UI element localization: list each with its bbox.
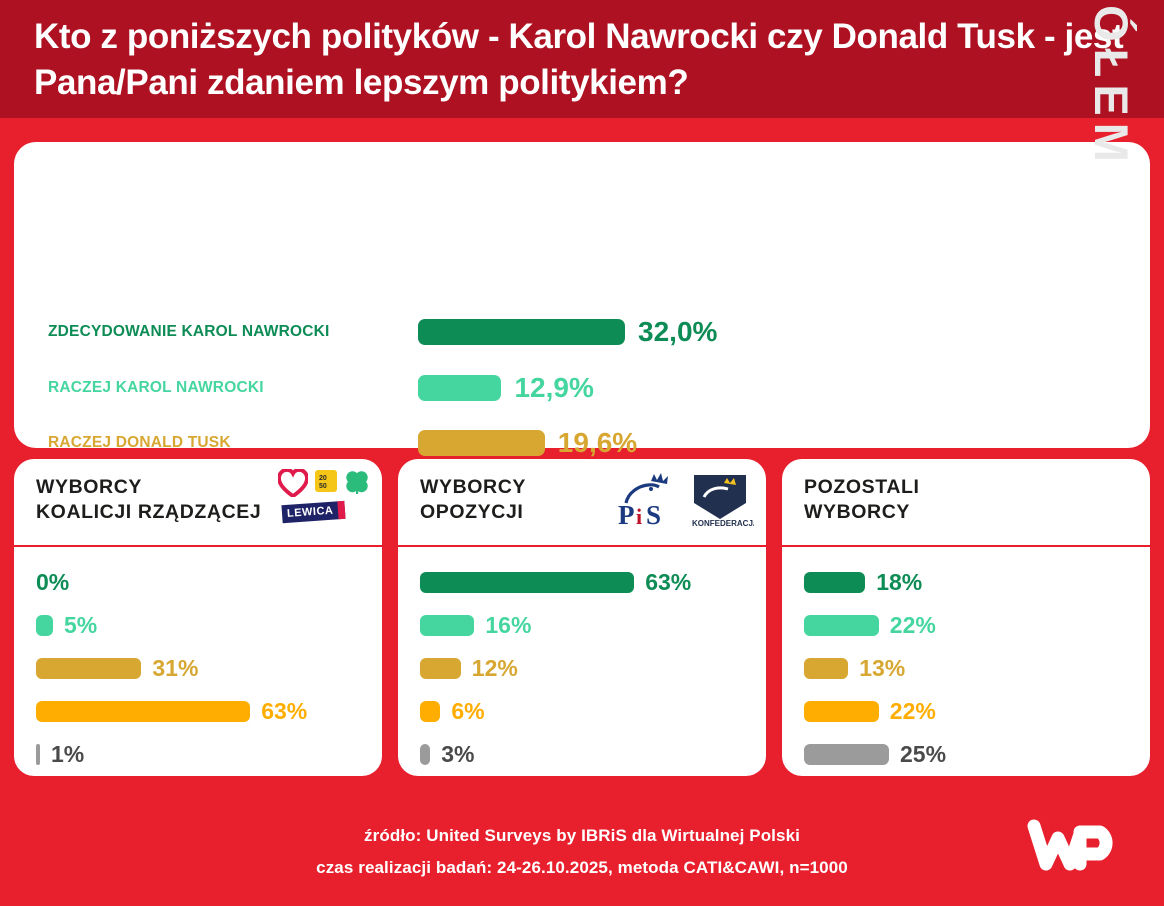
bar-value-label: 31% xyxy=(152,655,198,682)
bar-value-label: 12% xyxy=(472,655,518,682)
bar-value-label: 19,6% xyxy=(558,427,637,459)
bar-rect xyxy=(420,615,474,636)
overall-bar-rows: ZDECYDOWANIE KAROL NAWROCKI32,0%RACZEJ K… xyxy=(14,142,1150,448)
bar-rect xyxy=(804,744,889,765)
bar-rect xyxy=(804,615,879,636)
panel-logos: P i S KONFEDERACJA xyxy=(612,469,754,535)
bar-rect xyxy=(36,744,40,765)
svg-text:P: P xyxy=(618,500,635,530)
panel-bar-row: 5% xyxy=(36,604,382,647)
panel-bar-row: 16% xyxy=(420,604,766,647)
bar-value-label: 63% xyxy=(645,569,691,596)
bar-rect xyxy=(420,701,440,722)
panel-header: WYBORCY KOALICJI RZĄDZĄCEJ 20 50 LEWICA xyxy=(14,459,382,547)
bar-value-label: 16% xyxy=(485,612,531,639)
svg-text:50: 50 xyxy=(319,483,327,490)
panel-bar-row: 12% xyxy=(420,647,766,690)
page-title: Kto z poniższych polityków - Karol Nawro… xyxy=(34,14,1130,106)
bar-rect xyxy=(804,701,879,722)
footer-source: źródło: United Surveys by IBRiS dla Wirt… xyxy=(0,820,1164,852)
overall-results-card: OGÓŁEM ZDECYDOWANIE KAROL NAWROCKI32,0%R… xyxy=(14,142,1150,448)
bar-category-label: RACZEJ DONALD TUSK xyxy=(48,434,418,452)
panel-logos: 20 50 LEWICA xyxy=(278,469,370,535)
panel-bar-rows: 18%22%13%22%25% xyxy=(782,547,1150,776)
bar-value-label: 63% xyxy=(261,698,307,725)
panel-opposition-voters: WYBORCY OPOZYCJI P i S KONFEDERACJA 63%1… xyxy=(398,459,766,776)
svg-text:20: 20 xyxy=(319,475,327,482)
header-divider xyxy=(0,118,1164,123)
polska2050-logo: 20 50 xyxy=(314,469,338,493)
footer-fieldwork: czas realizacji badań: 24-26.10.2025, me… xyxy=(0,852,1164,884)
svg-text:i: i xyxy=(636,504,642,529)
panel-bar-row: 6% xyxy=(420,690,766,733)
panel-title: POZOSTALI WYBORCY xyxy=(804,475,1150,525)
panel-header: WYBORCY OPOZYCJI P i S KONFEDERACJA xyxy=(398,459,766,547)
overall-bar-row: RACZEJ KAROL NAWROCKI12,9% xyxy=(48,370,1150,406)
bar-rect xyxy=(418,375,501,401)
lewica-logo: LEWICA xyxy=(281,501,345,523)
header-banner: Kto z poniższych polityków - Karol Nawro… xyxy=(0,0,1164,118)
bar-value-label: 32,0% xyxy=(638,316,717,348)
clover-logo-psl xyxy=(344,469,370,495)
konfederacja-logo: KONFEDERACJA xyxy=(688,469,754,531)
panel-bar-row: 25% xyxy=(804,733,1150,776)
panel-bar-row: 63% xyxy=(36,690,382,733)
bar-value-label: 1% xyxy=(51,741,84,768)
panel-bar-row: 22% xyxy=(804,604,1150,647)
heart-logo-ko xyxy=(278,469,308,497)
bar-value-label: 12,9% xyxy=(514,372,593,404)
bar-rect xyxy=(36,615,53,636)
panel-bar-row: 22% xyxy=(804,690,1150,733)
bar-value-label: 0% xyxy=(36,569,69,596)
panel-bar-row: 18% xyxy=(804,561,1150,604)
bar-value-label: 22% xyxy=(890,698,936,725)
panel-bar-row: 0% xyxy=(36,561,382,604)
bar-rect xyxy=(420,658,461,679)
svg-text:KONFEDERACJA: KONFEDERACJA xyxy=(692,519,754,528)
bar-category-label: ZDECYDOWANIE KAROL NAWROCKI xyxy=(48,323,418,341)
panel-bar-rows: 0%5%31%63%1% xyxy=(14,547,382,776)
bar-rect xyxy=(804,658,848,679)
panel-other-voters: POZOSTALI WYBORCY 18%22%13%22%25% xyxy=(782,459,1150,776)
pis-logo: P i S xyxy=(612,469,682,531)
bar-value-label: 6% xyxy=(451,698,484,725)
bar-value-label: 25% xyxy=(900,741,946,768)
bar-rect xyxy=(36,701,250,722)
panel-bar-row: 1% xyxy=(36,733,382,776)
bar-rect xyxy=(804,572,865,593)
panel-bar-row: 3% xyxy=(420,733,766,776)
panel-header: POZOSTALI WYBORCY xyxy=(782,459,1150,547)
footer: źródło: United Surveys by IBRiS dla Wirt… xyxy=(0,790,1164,906)
bar-category-label: RACZEJ KAROL NAWROCKI xyxy=(48,379,418,397)
wp-logo xyxy=(1022,814,1140,876)
bar-rect xyxy=(420,572,634,593)
bar-value-label: 3% xyxy=(441,741,474,768)
panel-bar-row: 63% xyxy=(420,561,766,604)
panel-coalition-voters: WYBORCY KOALICJI RZĄDZĄCEJ 20 50 LEWICA … xyxy=(14,459,382,776)
bar-rect xyxy=(36,658,141,679)
overall-bar-row: ZDECYDOWANIE KAROL NAWROCKI32,0% xyxy=(48,314,1150,350)
bar-rect xyxy=(418,319,625,345)
svg-text:S: S xyxy=(646,500,661,530)
bar-value-label: 18% xyxy=(876,569,922,596)
bar-rect xyxy=(418,430,545,456)
bar-value-label: 13% xyxy=(859,655,905,682)
panel-bar-row: 13% xyxy=(804,647,1150,690)
panel-bar-row: 31% xyxy=(36,647,382,690)
overall-bar-row: RACZEJ DONALD TUSK19,6% xyxy=(48,425,1150,461)
panel-bar-rows: 63%16%12%6%3% xyxy=(398,547,766,776)
bar-rect xyxy=(420,744,430,765)
bar-value-label: 22% xyxy=(890,612,936,639)
bar-value-label: 5% xyxy=(64,612,97,639)
footer-text: źródło: United Surveys by IBRiS dla Wirt… xyxy=(0,820,1164,884)
